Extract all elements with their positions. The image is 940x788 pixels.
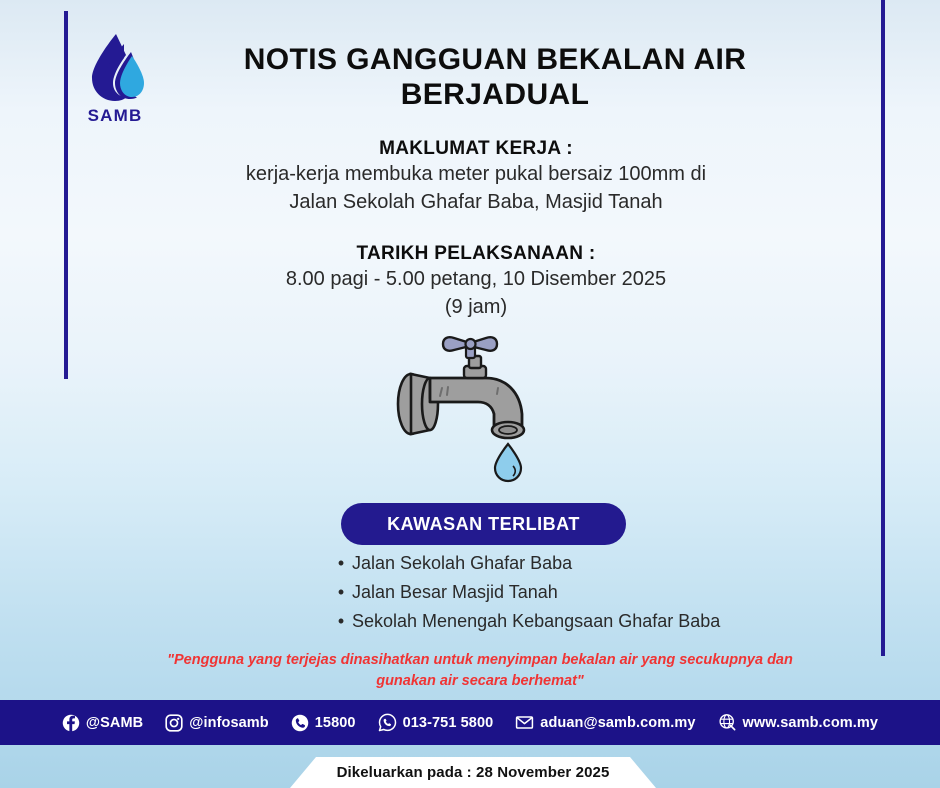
- issued-date-tab: Dikeluarkan pada : 28 November 2025: [290, 757, 656, 788]
- contact-instagram[interactable]: @infosamb: [165, 714, 269, 732]
- advisory-line-1: "Pengguna yang terjejas dinasihatkan unt…: [120, 650, 840, 671]
- bullet-icon: •: [330, 552, 352, 576]
- list-item-label: Jalan Sekolah Ghafar Baba: [352, 552, 572, 576]
- left-accent-rule: [64, 11, 68, 379]
- list-item-label: Jalan Besar Masjid Tanah: [352, 581, 558, 605]
- contact-whatsapp[interactable]: 013-751 5800: [378, 713, 494, 732]
- advisory-line-2: gunakan air secara berhemat": [120, 671, 840, 692]
- bullet-icon: •: [330, 581, 352, 605]
- date-info-heading: TARIKH PELAKSANAAN :: [140, 243, 812, 265]
- samb-logo-text: SAMB: [84, 107, 146, 124]
- contact-email[interactable]: aduan@samb.com.my: [515, 713, 695, 732]
- contact-label: www.samb.com.my: [743, 715, 879, 731]
- instagram-icon: [165, 714, 183, 732]
- date-info-line-1: 8.00 pagi - 5.00 petang, 10 Disember 202…: [140, 265, 812, 293]
- footer-contact-bar: @SAMB @infosamb 15800 013-751 5800 aduan: [0, 700, 940, 745]
- section-spacer: [140, 217, 812, 243]
- contact-phone[interactable]: 15800: [291, 714, 356, 732]
- work-info-line-1: kerja-kerja membuka meter pukal bersaiz …: [140, 160, 812, 188]
- contact-label: @infosamb: [189, 715, 269, 731]
- contact-label: aduan@samb.com.my: [540, 715, 695, 731]
- list-item: • Jalan Besar Masjid Tanah: [330, 581, 890, 605]
- phone-icon: [291, 714, 309, 732]
- contact-label: @SAMB: [86, 715, 143, 731]
- whatsapp-icon: [378, 713, 397, 732]
- list-item: • Sekolah Menengah Kebangsaan Ghafar Bab…: [330, 610, 890, 634]
- page-title: NOTIS GANGGUAN BEKALAN AIR BERJADUAL: [180, 42, 810, 113]
- contact-label: 013-751 5800: [403, 715, 494, 731]
- water-supply-notice-poster: SAMB NOTIS GANGGUAN BEKALAN AIR BERJADUA…: [0, 0, 940, 788]
- facebook-icon: [62, 714, 80, 732]
- list-item-label: Sekolah Menengah Kebangsaan Ghafar Baba: [352, 610, 720, 634]
- list-item: • Jalan Sekolah Ghafar Baba: [330, 552, 890, 576]
- contact-label: 15800: [315, 715, 356, 731]
- envelope-icon: [515, 713, 534, 732]
- samb-water-droplet-logo-icon: [86, 32, 144, 106]
- work-info-heading: MAKLUMAT KERJA :: [140, 138, 812, 160]
- work-info-line-2: Jalan Sekolah Ghafar Baba, Masjid Tanah: [140, 188, 812, 216]
- date-info-line-2: (9 jam): [140, 293, 812, 321]
- contact-facebook[interactable]: @SAMB: [62, 714, 143, 732]
- affected-areas-badge: KAWASAN TERLIBAT: [341, 503, 626, 545]
- notice-details: MAKLUMAT KERJA : kerja-kerja membuka met…: [140, 138, 812, 322]
- bullet-icon: •: [330, 610, 352, 634]
- affected-areas-list: • Jalan Sekolah Ghafar Baba • Jalan Besa…: [330, 552, 890, 638]
- advisory-note: "Pengguna yang terjejas dinasihatkan unt…: [120, 650, 840, 692]
- globe-icon: [718, 713, 737, 732]
- samb-logo: SAMB: [84, 32, 146, 130]
- dripping-faucet-icon: [390, 326, 570, 484]
- contact-website[interactable]: www.samb.com.my: [718, 713, 879, 732]
